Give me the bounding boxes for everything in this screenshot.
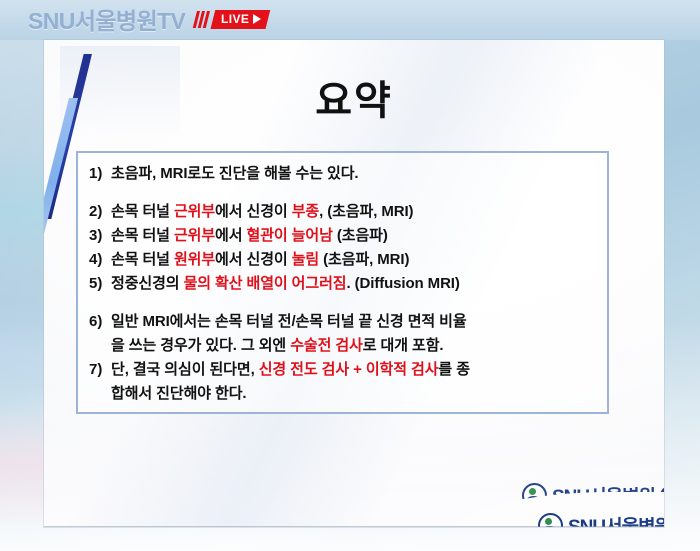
plain-text: (초음파) [333, 227, 388, 244]
live-label: LIVE [221, 12, 249, 26]
summary-line-text: 을 쓰는 경우가 있다. 그 외엔 수술전 검사로 대개 포함. [111, 334, 443, 358]
summary-line: 1)초음파, MRI로도 진단을 해볼 수는 있다. [89, 162, 597, 186]
play-triangle-icon [253, 14, 261, 24]
live-indicator: LIVE [192, 9, 271, 29]
plain-text: 을 쓰는 경우가 있다. 그 외엔 [111, 337, 290, 354]
summary-line: 7)단, 결국 의심이 된다면, 신경 전도 검사 + 이학적 검사를 종 [89, 358, 597, 382]
list-marker: 5) [89, 272, 111, 296]
plain-text: . (Diffusion MRI) [346, 275, 459, 292]
highlighted-term: 수술전 검사 [290, 337, 363, 354]
plain-text: 에서 [215, 227, 246, 244]
summary-line-text: 정중신경의 물의 확산 배열이 어그러짐. (Diffusion MRI) [111, 272, 460, 296]
summary-line-text: 단, 결국 의심이 된다면, 신경 전도 검사 + 이학적 검사를 종 [111, 358, 470, 382]
plain-text: 에서 신경이 [215, 251, 292, 268]
list-marker: 2) [89, 200, 111, 224]
list-marker: 6) [89, 310, 111, 334]
summary-line: 합해서 진단해야 한다. [89, 382, 597, 406]
list-marker: 7) [89, 358, 111, 382]
live-badge: LIVE [211, 10, 271, 29]
list-marker: 3) [89, 224, 111, 248]
page-title: 요약 [44, 68, 664, 126]
highlighted-term: 혈관이 늘어남 [247, 227, 333, 244]
highlighted-term: 신경 전도 검사 + 이학적 검사 [259, 361, 439, 378]
plain-text: 정중신경의 [111, 275, 184, 292]
summary-line-text: 손목 터널 근위부에서 혈관이 늘어남 (초음파) [111, 224, 388, 248]
plain-text: 초음파, MRI로도 진단을 해볼 수는 있다. [111, 165, 358, 182]
highlighted-term: 원위부 [174, 251, 215, 268]
summary-list: 1)초음파, MRI로도 진단을 해볼 수는 있다.2)손목 터널 근위부에서 … [89, 162, 597, 406]
list-marker: 1) [89, 162, 111, 186]
highlighted-term: 근위부 [174, 227, 215, 244]
summary-line: 2)손목 터널 근위부에서 신경이 부종, (초음파, MRI) [89, 200, 597, 224]
channel-topbar: SNU서울병원TV LIVE [0, 0, 700, 40]
summary-line-text: 합해서 진단해야 한다. [111, 382, 247, 406]
highlighted-term: 부종 [292, 203, 319, 220]
channel-branding: SNU서울병원TV LIVE [28, 4, 268, 34]
channel-name: SNU서울병원TV [28, 2, 185, 36]
slide-stage: SNU서울병원TV LIVE 요약 1)초음파, MRI로도 진단을 해볼 수는… [0, 0, 700, 551]
summary-line: 4)손목 터널 원위부에서 신경이 눌림 (초음파, MRI) [89, 248, 597, 272]
plain-text: 단, 결국 의심이 된다면, [111, 361, 259, 378]
summary-line-text: 손목 터널 근위부에서 신경이 부종, (초음파, MRI) [111, 200, 413, 224]
plain-text: (초음파, MRI) [319, 251, 409, 268]
summary-line-text: 손목 터널 원위부에서 신경이 눌림 (초음파, MRI) [111, 248, 409, 272]
summary-line-text: 일반 MRI에서는 손목 터널 전/손목 터널 끝 신경 면적 비율 [111, 310, 467, 334]
plain-text: 손목 터널 [111, 227, 174, 244]
list-marker: 4) [89, 248, 111, 272]
plain-text: 합해서 진단해야 한다. [111, 385, 247, 402]
summary-line: 6)일반 MRI에서는 손목 터널 전/손목 터널 끝 신경 면적 비율 [89, 310, 597, 334]
highlighted-term: 물의 확산 배열이 어그러짐 [184, 275, 347, 292]
hospital-logo: SNU서울병원 [538, 512, 664, 527]
plain-text: , (초음파, MRI) [319, 203, 413, 220]
plain-text: 일반 MRI에서는 손목 터널 전/손목 터널 끝 신경 면적 비율 [111, 313, 467, 330]
summary-line: 3)손목 터널 근위부에서 혈관이 늘어남 (초음파) [89, 224, 597, 248]
summary-line: 5)정중신경의 물의 확산 배열이 어그러짐. (Diffusion MRI) [89, 272, 597, 296]
summary-line: 을 쓰는 경우가 있다. 그 외엔 수술전 검사로 대개 포함. [89, 334, 597, 358]
line-spacer [89, 186, 597, 200]
highlighted-term: 근위부 [174, 203, 215, 220]
slide-bottom-edge [44, 526, 664, 527]
logo-text: SNU서울병원 [568, 512, 664, 527]
line-spacer [89, 296, 597, 310]
highlighted-term: 눌림 [292, 251, 319, 268]
plain-text: 에서 신경이 [215, 203, 292, 220]
presentation-slide: 요약 1)초음파, MRI로도 진단을 해볼 수는 있다.2)손목 터널 근위부… [44, 40, 664, 527]
plain-text: 손목 터널 [111, 251, 174, 268]
hospital-circle-emblem-icon [538, 513, 563, 527]
summary-line-text: 초음파, MRI로도 진단을 해볼 수는 있다. [111, 162, 358, 186]
plain-text: 손목 터널 [111, 203, 174, 220]
plain-text: 로 대개 포함. [363, 337, 444, 354]
plain-text: 를 종 [438, 361, 469, 378]
summary-content-box: 1)초음파, MRI로도 진단을 해볼 수는 있다.2)손목 터널 근위부에서 … [76, 151, 609, 414]
